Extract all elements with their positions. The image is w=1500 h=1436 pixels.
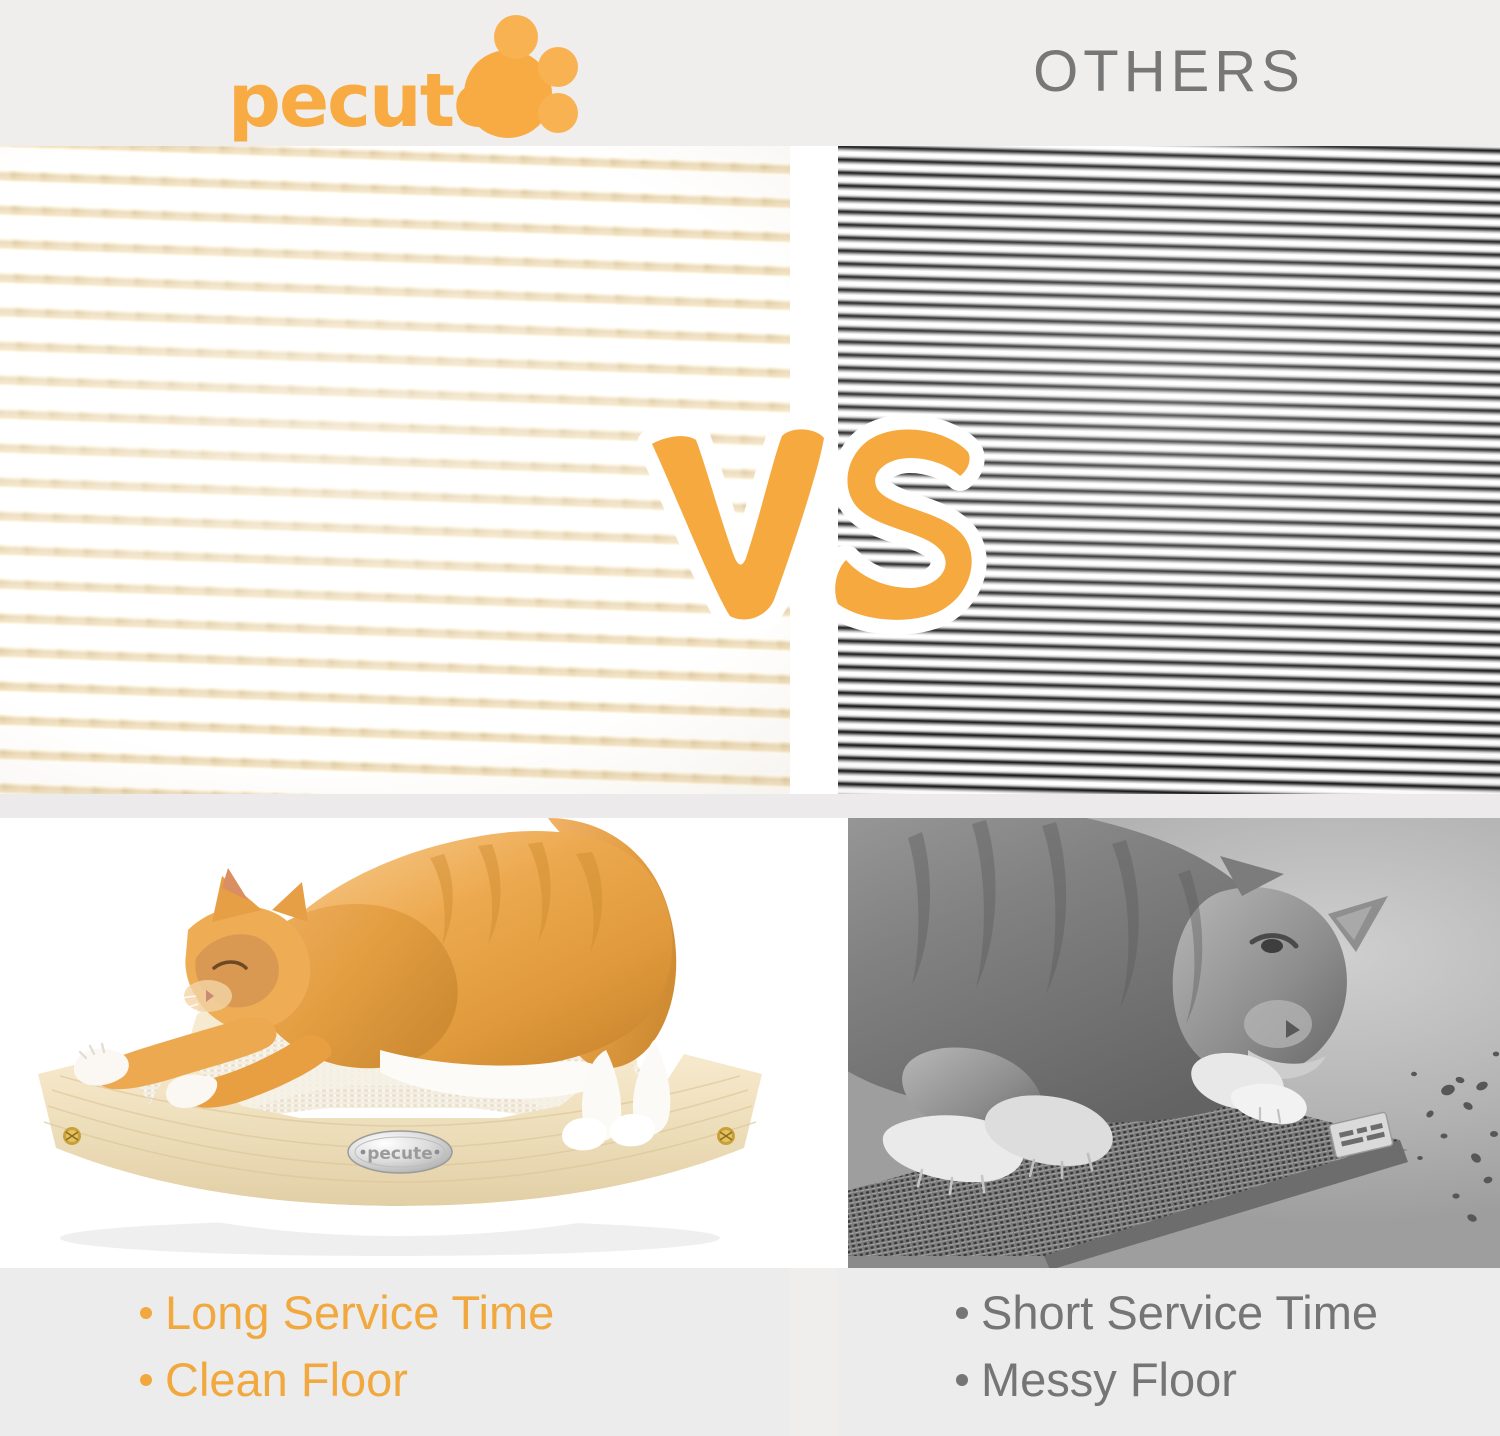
vertical-divider-bottom [790,818,838,1268]
paw-print-icon [460,14,598,140]
list-item: Clean Floor [0,1347,790,1414]
paw-toe-one [494,15,538,59]
benefit-label: Clean Floor [165,1347,408,1414]
bullet-dot-icon [140,1307,152,1319]
comparison-infographic: pecute OTHERS [0,0,1500,1436]
vs-badge: VS [638,412,990,644]
drawback-label: Short Service Time [981,1280,1378,1347]
drawback-label: Messy Floor [981,1347,1237,1414]
others-product-photo [848,818,1500,1268]
bullet-dot-icon [140,1374,152,1386]
header-band: pecute OTHERS [0,0,1500,146]
badge-text: pecute [367,1144,433,1164]
list-item: Long Service Time [0,1280,790,1347]
pecute-benefits-list: Long Service Time Clean Floor [0,1268,790,1436]
benefit-label: Long Service Time [165,1280,554,1347]
pecute-product-photo: pecute [0,818,790,1268]
brand-logo: pecute [228,14,598,140]
paw-toe-two [538,47,578,87]
product-badge: pecute [348,1131,452,1173]
paw-toe-three [538,93,578,133]
screw-left [63,1127,81,1145]
bullet-dot-icon [956,1307,968,1319]
others-scratcher-panel [838,818,1500,1268]
cardboard-debris [1411,1052,1499,1224]
screw-right [717,1127,735,1145]
horizontal-divider [0,794,1500,818]
pecute-scratcher-panel: pecute [0,818,790,1268]
list-item: Short Service Time [838,1280,1500,1347]
others-drawbacks-list: Short Service Time Messy Floor [838,1268,1500,1436]
bullet-dot-icon [956,1374,968,1386]
list-item: Messy Floor [838,1347,1500,1414]
others-title: OTHERS [838,38,1500,105]
